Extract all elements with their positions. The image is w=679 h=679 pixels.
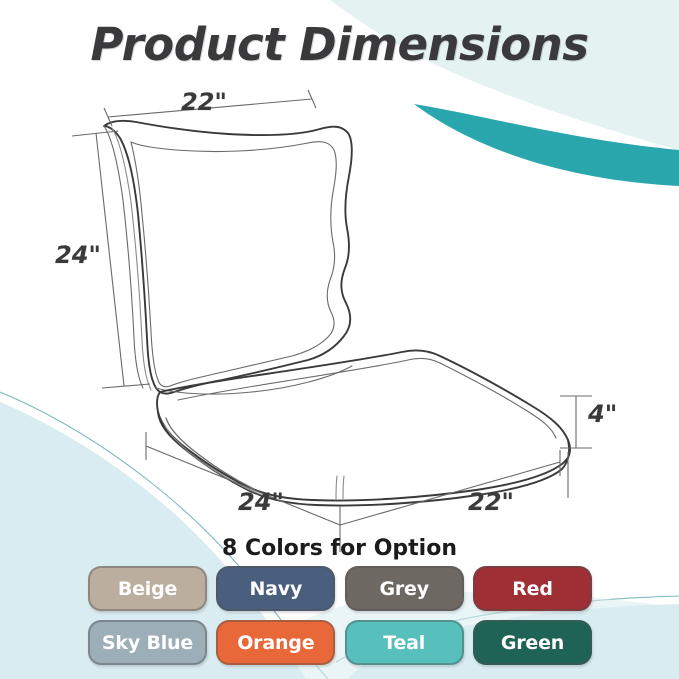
color-swatch-sky-blue[interactable]: Sky Blue [88, 620, 207, 665]
color-swatch-teal[interactable]: Teal [345, 620, 464, 665]
color-swatch-navy[interactable]: Navy [216, 566, 335, 611]
color-swatch-label: Grey [379, 578, 428, 600]
seat-cushion-bottom-left-edge [166, 418, 254, 489]
dimension-label-seat-thickness: 4" [588, 400, 617, 428]
color-swatch-label: Beige [118, 578, 177, 600]
colors-section-heading: 8 Colors for Option [0, 536, 679, 561]
color-swatch-beige[interactable]: Beige [88, 566, 207, 611]
color-swatch-label: Navy [249, 578, 302, 600]
color-swatch-label: Green [501, 632, 564, 654]
color-swatch-label: Sky Blue [102, 632, 193, 654]
title-container: Product Dimensions [0, 18, 679, 71]
back-cushion-outline [104, 121, 352, 394]
product-dimensions-infographic: Product Dimensions [0, 0, 679, 679]
color-swatch-green[interactable]: Green [473, 620, 592, 665]
color-swatch-label: Teal [383, 632, 425, 654]
color-swatch-label: Orange [237, 632, 314, 654]
color-swatch-orange[interactable]: Orange [216, 620, 335, 665]
seat-cushion-center-seam-2 [343, 476, 344, 500]
page-title: Product Dimensions [91, 18, 589, 71]
back-cushion-bottom-tuck [156, 366, 352, 394]
color-swatch-grid: Beige Navy Grey Red Sky Blue Orange Teal [88, 566, 592, 665]
color-swatch-row: Sky Blue Orange Teal Green [88, 620, 592, 665]
color-swatch-red[interactable]: Red [473, 566, 592, 611]
dimension-label-seat-width: 22" [468, 488, 514, 516]
dimension-label-seat-depth: 24" [238, 488, 284, 516]
color-swatch-row: Beige Navy Grey Red [88, 566, 592, 611]
color-swatch-label: Red [512, 578, 553, 600]
dimline-bottom-right [340, 462, 560, 525]
color-swatch-grey[interactable]: Grey [345, 566, 464, 611]
dimension-label-back-width: 22" [181, 88, 227, 116]
seat-cushion-center-seam [336, 476, 337, 500]
dimtick-left-top [72, 131, 118, 136]
dimension-label-back-height: 24" [55, 241, 101, 269]
back-cushion-inner-seam [131, 142, 336, 387]
seat-cushion-top-seam [178, 358, 556, 438]
